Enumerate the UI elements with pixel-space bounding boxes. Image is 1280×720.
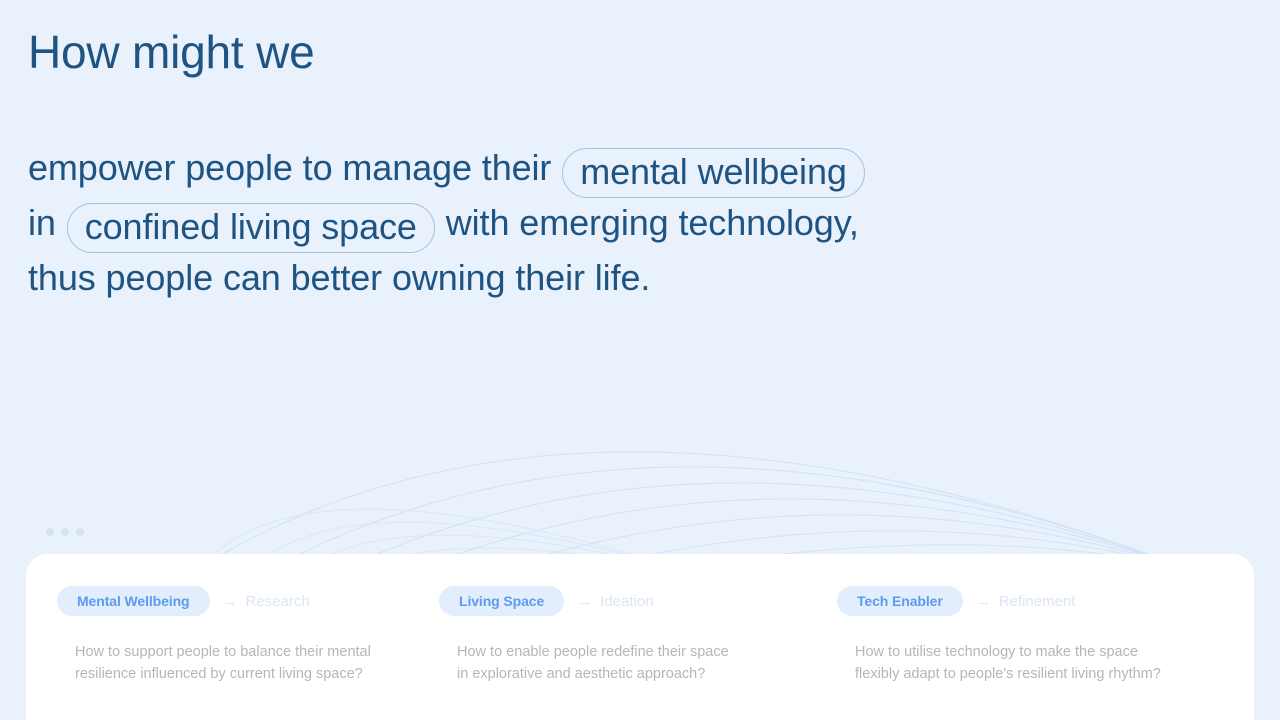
keyword-chip-mental-wellbeing[interactable]: mental wellbeing — [562, 148, 865, 198]
insight-description-line: in explorative and aesthetic approach? — [457, 663, 800, 685]
statement-text: empower people to manage their — [28, 147, 561, 188]
keyword-chip-confined-living-space[interactable]: confined living space — [67, 203, 435, 253]
insight-description-line: How to support people to balance their m… — [75, 641, 402, 663]
topic-pill[interactable]: Living Space — [439, 586, 564, 616]
insight-description: How to enable people redefine their spac… — [439, 641, 800, 685]
insight-description-line: resilience influenced by current living … — [75, 663, 402, 685]
stage-text: Research — [246, 593, 310, 610]
statement-line-3: thus people can better owning their life… — [28, 250, 1028, 305]
insight-description-line: How to utilise technology to make the sp… — [855, 641, 1210, 663]
stage-label: → Ideation — [577, 593, 653, 610]
dot — [76, 528, 84, 536]
page-title: How might we — [28, 26, 314, 79]
insight-column-header: Mental Wellbeing → Research — [57, 586, 402, 616]
insight-card: Mental Wellbeing → Research How to suppo… — [26, 554, 1254, 720]
insight-description: How to support people to balance their m… — [57, 641, 402, 685]
statement-text: in — [28, 202, 66, 243]
topic-pill[interactable]: Mental Wellbeing — [57, 586, 210, 616]
insight-column-header: Living Space → Ideation — [439, 586, 800, 616]
arrow-right-icon: → — [223, 594, 238, 609]
insight-column: Tech Enabler → Refinement How to utilise… — [824, 586, 1234, 720]
stage-text: Refinement — [999, 593, 1076, 610]
insight-column: Living Space → Ideation How to enable pe… — [426, 586, 824, 720]
stage-label: → Research — [223, 593, 310, 610]
insight-column-header: Tech Enabler → Refinement — [837, 586, 1210, 616]
stage-text: Ideation — [600, 593, 653, 610]
insight-description-line: flexibly adapt to people's resilient liv… — [855, 663, 1210, 685]
drag-handle-dots[interactable] — [46, 528, 84, 536]
insight-description-line: How to enable people redefine their spac… — [457, 641, 800, 663]
stage-label: → Refinement — [976, 593, 1076, 610]
arrow-right-icon: → — [577, 594, 592, 609]
statement-line-2: in confined living space with emerging t… — [28, 195, 1028, 250]
hmw-statement: empower people to manage their mental we… — [28, 140, 1028, 305]
statement-text: with emerging technology, — [436, 202, 859, 243]
insight-description: How to utilise technology to make the sp… — [837, 641, 1210, 685]
statement-line-1: empower people to manage their mental we… — [28, 140, 1028, 195]
topic-pill[interactable]: Tech Enabler — [837, 586, 963, 616]
arrow-right-icon: → — [976, 594, 991, 609]
dot — [46, 528, 54, 536]
dot — [61, 528, 69, 536]
insight-column: Mental Wellbeing → Research How to suppo… — [26, 586, 426, 720]
